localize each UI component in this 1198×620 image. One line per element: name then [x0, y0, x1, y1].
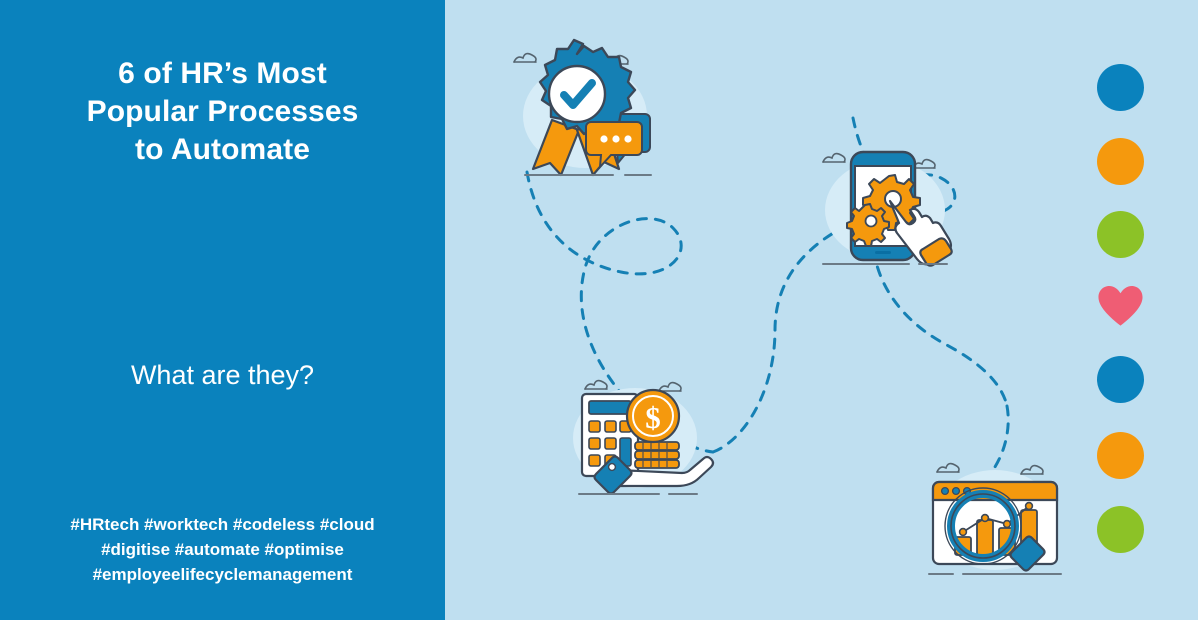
dot-green-1	[1097, 211, 1144, 258]
badge-check-illustration	[505, 42, 665, 187]
hashtag-line-2: #digitise #automate #optimise	[0, 537, 445, 562]
page-title-line-2: Popular Processes	[0, 93, 445, 131]
phone-gears-illustration	[805, 142, 965, 277]
hashtag-line-1: #HRtech #worktech #codeless #cloud	[0, 512, 445, 537]
dot-orange-1	[1097, 138, 1144, 185]
left-text-panel: 6 of HR’s Most Popular Processes to Auto…	[0, 0, 445, 620]
dot-blue-2	[1097, 356, 1144, 403]
page-title: 6 of HR’s Most Popular Processes to Auto…	[0, 55, 445, 169]
heart-pink	[1097, 283, 1144, 330]
dot-blue-1	[1097, 64, 1144, 111]
page-title-line-1: 6 of HR’s Most	[0, 55, 445, 93]
window-dot-1	[942, 488, 949, 495]
subtitle-question: What are they?	[0, 358, 445, 392]
hashtag-block: #HRtech #worktech #codeless #cloud #digi…	[0, 512, 445, 587]
window-dot-2	[953, 488, 960, 495]
rosette-inner-circle	[549, 66, 605, 122]
calculator-money-illustration: $	[555, 372, 715, 507]
gear-icon-small	[847, 204, 889, 246]
svg-text:$: $	[645, 400, 661, 435]
dollar-coin-icon: $	[627, 390, 679, 442]
coin-stack-icon	[635, 442, 679, 468]
dot-orange-2	[1097, 432, 1144, 479]
analytics-window-illustration	[915, 452, 1075, 587]
hashtag-line-3: #employeelifecyclemanagement	[0, 562, 445, 587]
dot-green-2	[1097, 506, 1144, 553]
page-title-line-3: to Automate	[0, 131, 445, 169]
poster-canvas: 6 of HR’s Most Popular Processes to Auto…	[0, 0, 1198, 620]
